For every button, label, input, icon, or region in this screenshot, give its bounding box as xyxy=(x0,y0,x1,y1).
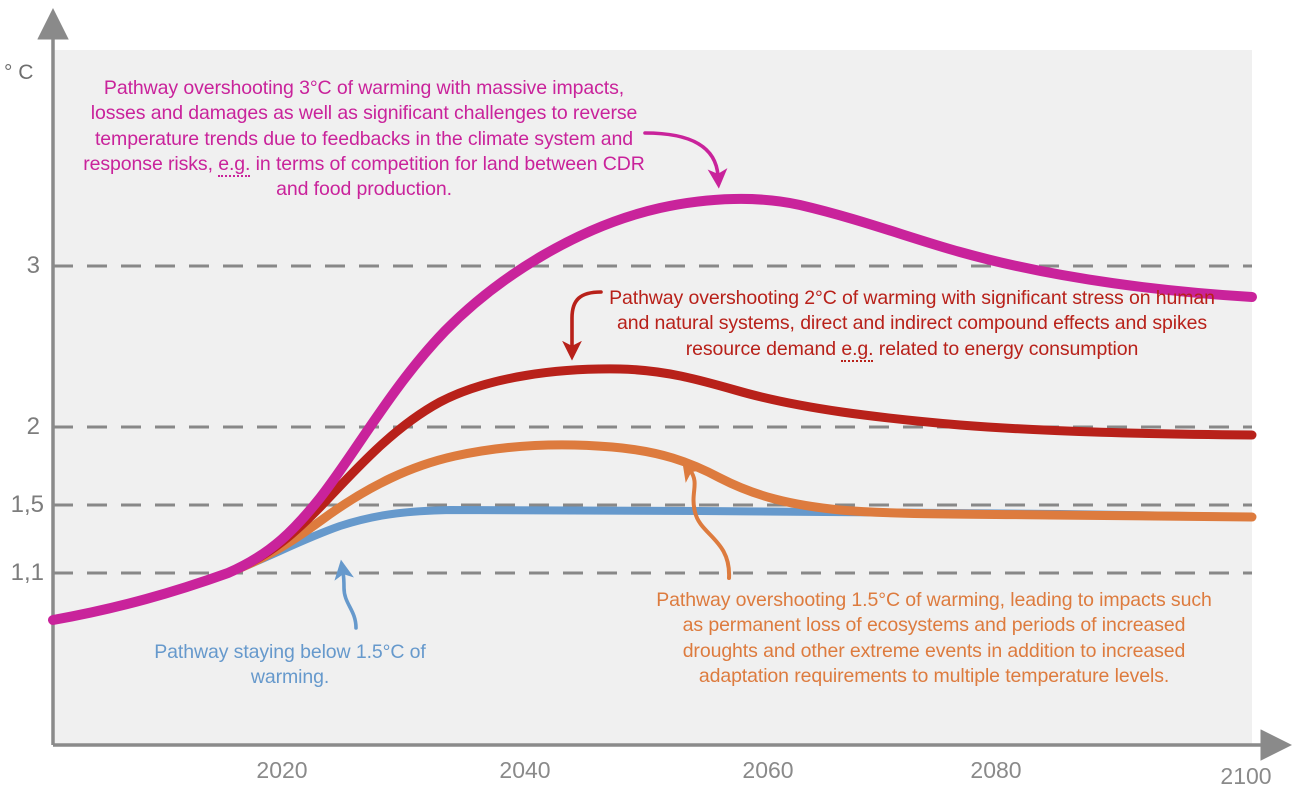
x-tick-label-2020: 2020 xyxy=(232,757,332,784)
annotation-below-1-5c: Pathway staying below 1.5°C of warming. xyxy=(148,640,432,691)
y-tick-label-1-5: 1,5 xyxy=(0,491,44,519)
y-tick-label-1-1: 1,1 xyxy=(0,559,44,587)
y-tick-label-3: 3 xyxy=(0,252,40,280)
x-tick-label-2100: 2100 xyxy=(1196,763,1296,790)
y-tick-label-2: 2 xyxy=(0,413,40,441)
annotation-overshoot-1-5c: Pathway overshooting 1.5°C of warming, l… xyxy=(656,588,1212,689)
spellcheck-marked-text: e.g. xyxy=(218,153,250,177)
y-axis-unit-label: ° C xyxy=(4,61,33,85)
annotation-overshoot-3c: Pathway overshooting 3°C of warming with… xyxy=(78,76,650,203)
x-tick-label-2060: 2060 xyxy=(718,757,818,784)
x-tick-label-2040: 2040 xyxy=(475,757,575,784)
climate-pathways-figure: ° C 3 2 1,5 1,1 2020 2040 2060 2080 2100… xyxy=(0,0,1300,800)
spellcheck-marked-text: e.g. xyxy=(841,338,873,362)
x-tick-label-2080: 2080 xyxy=(946,757,1046,784)
annotation-overshoot-2c: Pathway overshooting 2°C of warming with… xyxy=(598,286,1226,362)
